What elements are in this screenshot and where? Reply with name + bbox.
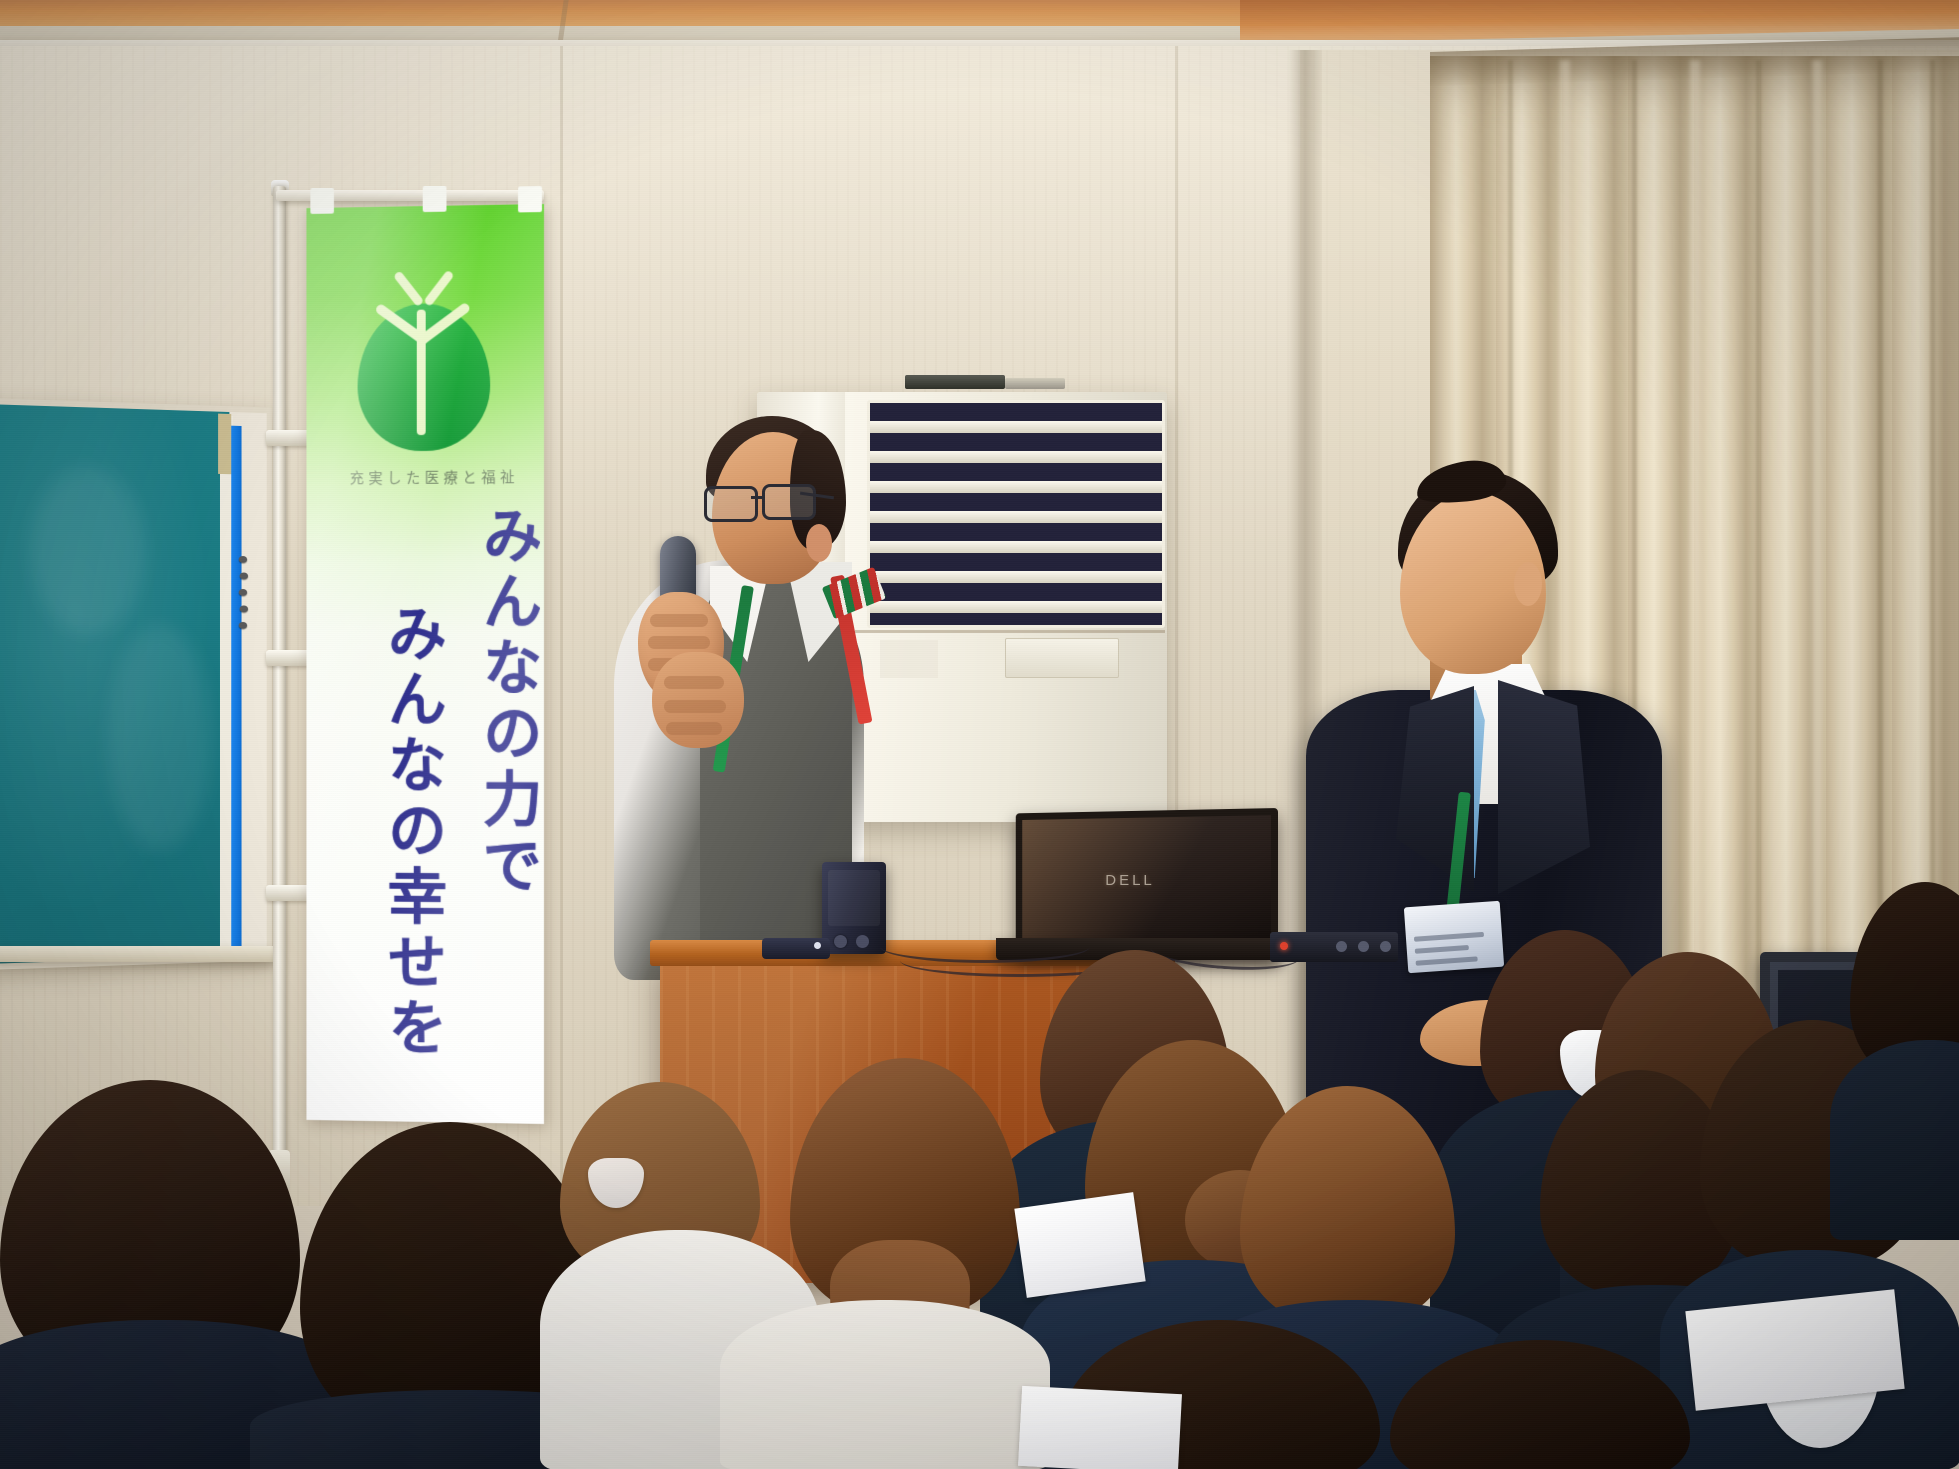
- pc-speaker-left: [822, 862, 886, 954]
- banner-tagline: 充実した医療と福祉: [350, 466, 538, 488]
- banner-tab: [423, 186, 447, 212]
- banner-calligraphy-left: みんなの幸せを: [369, 602, 455, 1070]
- finger: [664, 700, 726, 713]
- air-conditioner-label: [880, 640, 938, 678]
- chalk-tray: [0, 946, 276, 962]
- mixer-knob[interactable]: [1380, 941, 1391, 952]
- curtain-highlight: [1812, 60, 1822, 1088]
- finger: [666, 722, 722, 735]
- air-conditioner-seam: [855, 630, 1165, 633]
- chalkboard-blue-strip: [231, 426, 241, 950]
- banner-pole-ring: [266, 885, 312, 901]
- air-conditioner-top-trim: [1005, 378, 1065, 389]
- organization-logo: [358, 303, 491, 454]
- meeting-room-photo: 充実した医療と福祉 みんなの力で みんなの幸せを: [0, 0, 1959, 1469]
- chalk-smudge: [108, 625, 213, 852]
- mixer-knob[interactable]: [1358, 941, 1369, 952]
- speaker-grille: [828, 870, 880, 926]
- badge-text-line: [1414, 932, 1484, 942]
- speaker-hand-lower: [652, 652, 744, 748]
- audience-shoulders: [1830, 1040, 1959, 1240]
- chalkboard-corner-tab: [218, 414, 231, 475]
- curtain-highlight: [1690, 60, 1700, 1088]
- audience-shoulders-white-coat: [720, 1300, 1050, 1469]
- air-conditioner-grill: [867, 400, 1165, 628]
- magnet[interactable]: [239, 589, 247, 596]
- finger: [650, 614, 708, 627]
- finger: [664, 676, 724, 689]
- id-badge: [1404, 901, 1504, 974]
- magnet[interactable]: [240, 605, 248, 612]
- louver: [870, 601, 1162, 613]
- handout-paper[interactable]: [1018, 1386, 1182, 1469]
- mobile-phone[interactable]: [762, 938, 830, 959]
- nobori-banner: 充実した医療と福祉 みんなの力で みんなの幸せを: [306, 204, 544, 1124]
- banner-pole-vertical: [273, 186, 286, 1196]
- louver: [870, 511, 1162, 523]
- handout-paper[interactable]: [1014, 1192, 1145, 1298]
- leaf-notch-right: [423, 270, 454, 307]
- power-led-icon: [1280, 942, 1288, 950]
- suited-man-ear: [1514, 562, 1542, 606]
- curtain-fold: [1756, 60, 1761, 1088]
- leaf-vein-center: [417, 310, 426, 436]
- speaker-knob[interactable]: [834, 935, 847, 948]
- louver: [870, 541, 1162, 553]
- audio-mixer[interactable]: [1270, 932, 1398, 962]
- louver: [870, 571, 1162, 583]
- lens-left: [704, 486, 758, 522]
- speaker-knob[interactable]: [856, 935, 869, 948]
- magnet[interactable]: [239, 556, 247, 563]
- wall-panel-joint: [560, 46, 563, 1206]
- magnet[interactable]: [240, 572, 248, 579]
- badge-text-line: [1416, 956, 1478, 965]
- badge-text-line: [1415, 945, 1469, 954]
- banner-calligraphy-right: みんなの力で: [464, 504, 551, 934]
- green-chalkboard: [0, 398, 272, 970]
- finger: [648, 636, 710, 649]
- louver: [870, 481, 1162, 493]
- mixer-knob[interactable]: [1336, 941, 1347, 952]
- louver: [870, 451, 1162, 463]
- banner-tab: [518, 186, 542, 212]
- banner-pole-ring: [266, 430, 312, 446]
- banner-tab: [310, 188, 334, 214]
- banner-pole-ring: [266, 650, 312, 666]
- lens-right: [762, 484, 816, 520]
- phone-indicator: [814, 942, 821, 949]
- louver: [870, 421, 1162, 433]
- magnet[interactable]: [239, 622, 247, 629]
- glasses-bridge: [751, 496, 765, 499]
- speaker-ear: [806, 524, 832, 562]
- chalk-smudge: [30, 465, 146, 635]
- chalkboard-surface: [0, 404, 229, 964]
- dell-logo: DELL: [1098, 872, 1162, 898]
- eyeglasses-icon: [704, 484, 810, 518]
- air-conditioner-top-vent: [905, 375, 1005, 389]
- air-conditioner-control-panel[interactable]: [1005, 638, 1119, 678]
- leaf-notch-left: [393, 270, 424, 307]
